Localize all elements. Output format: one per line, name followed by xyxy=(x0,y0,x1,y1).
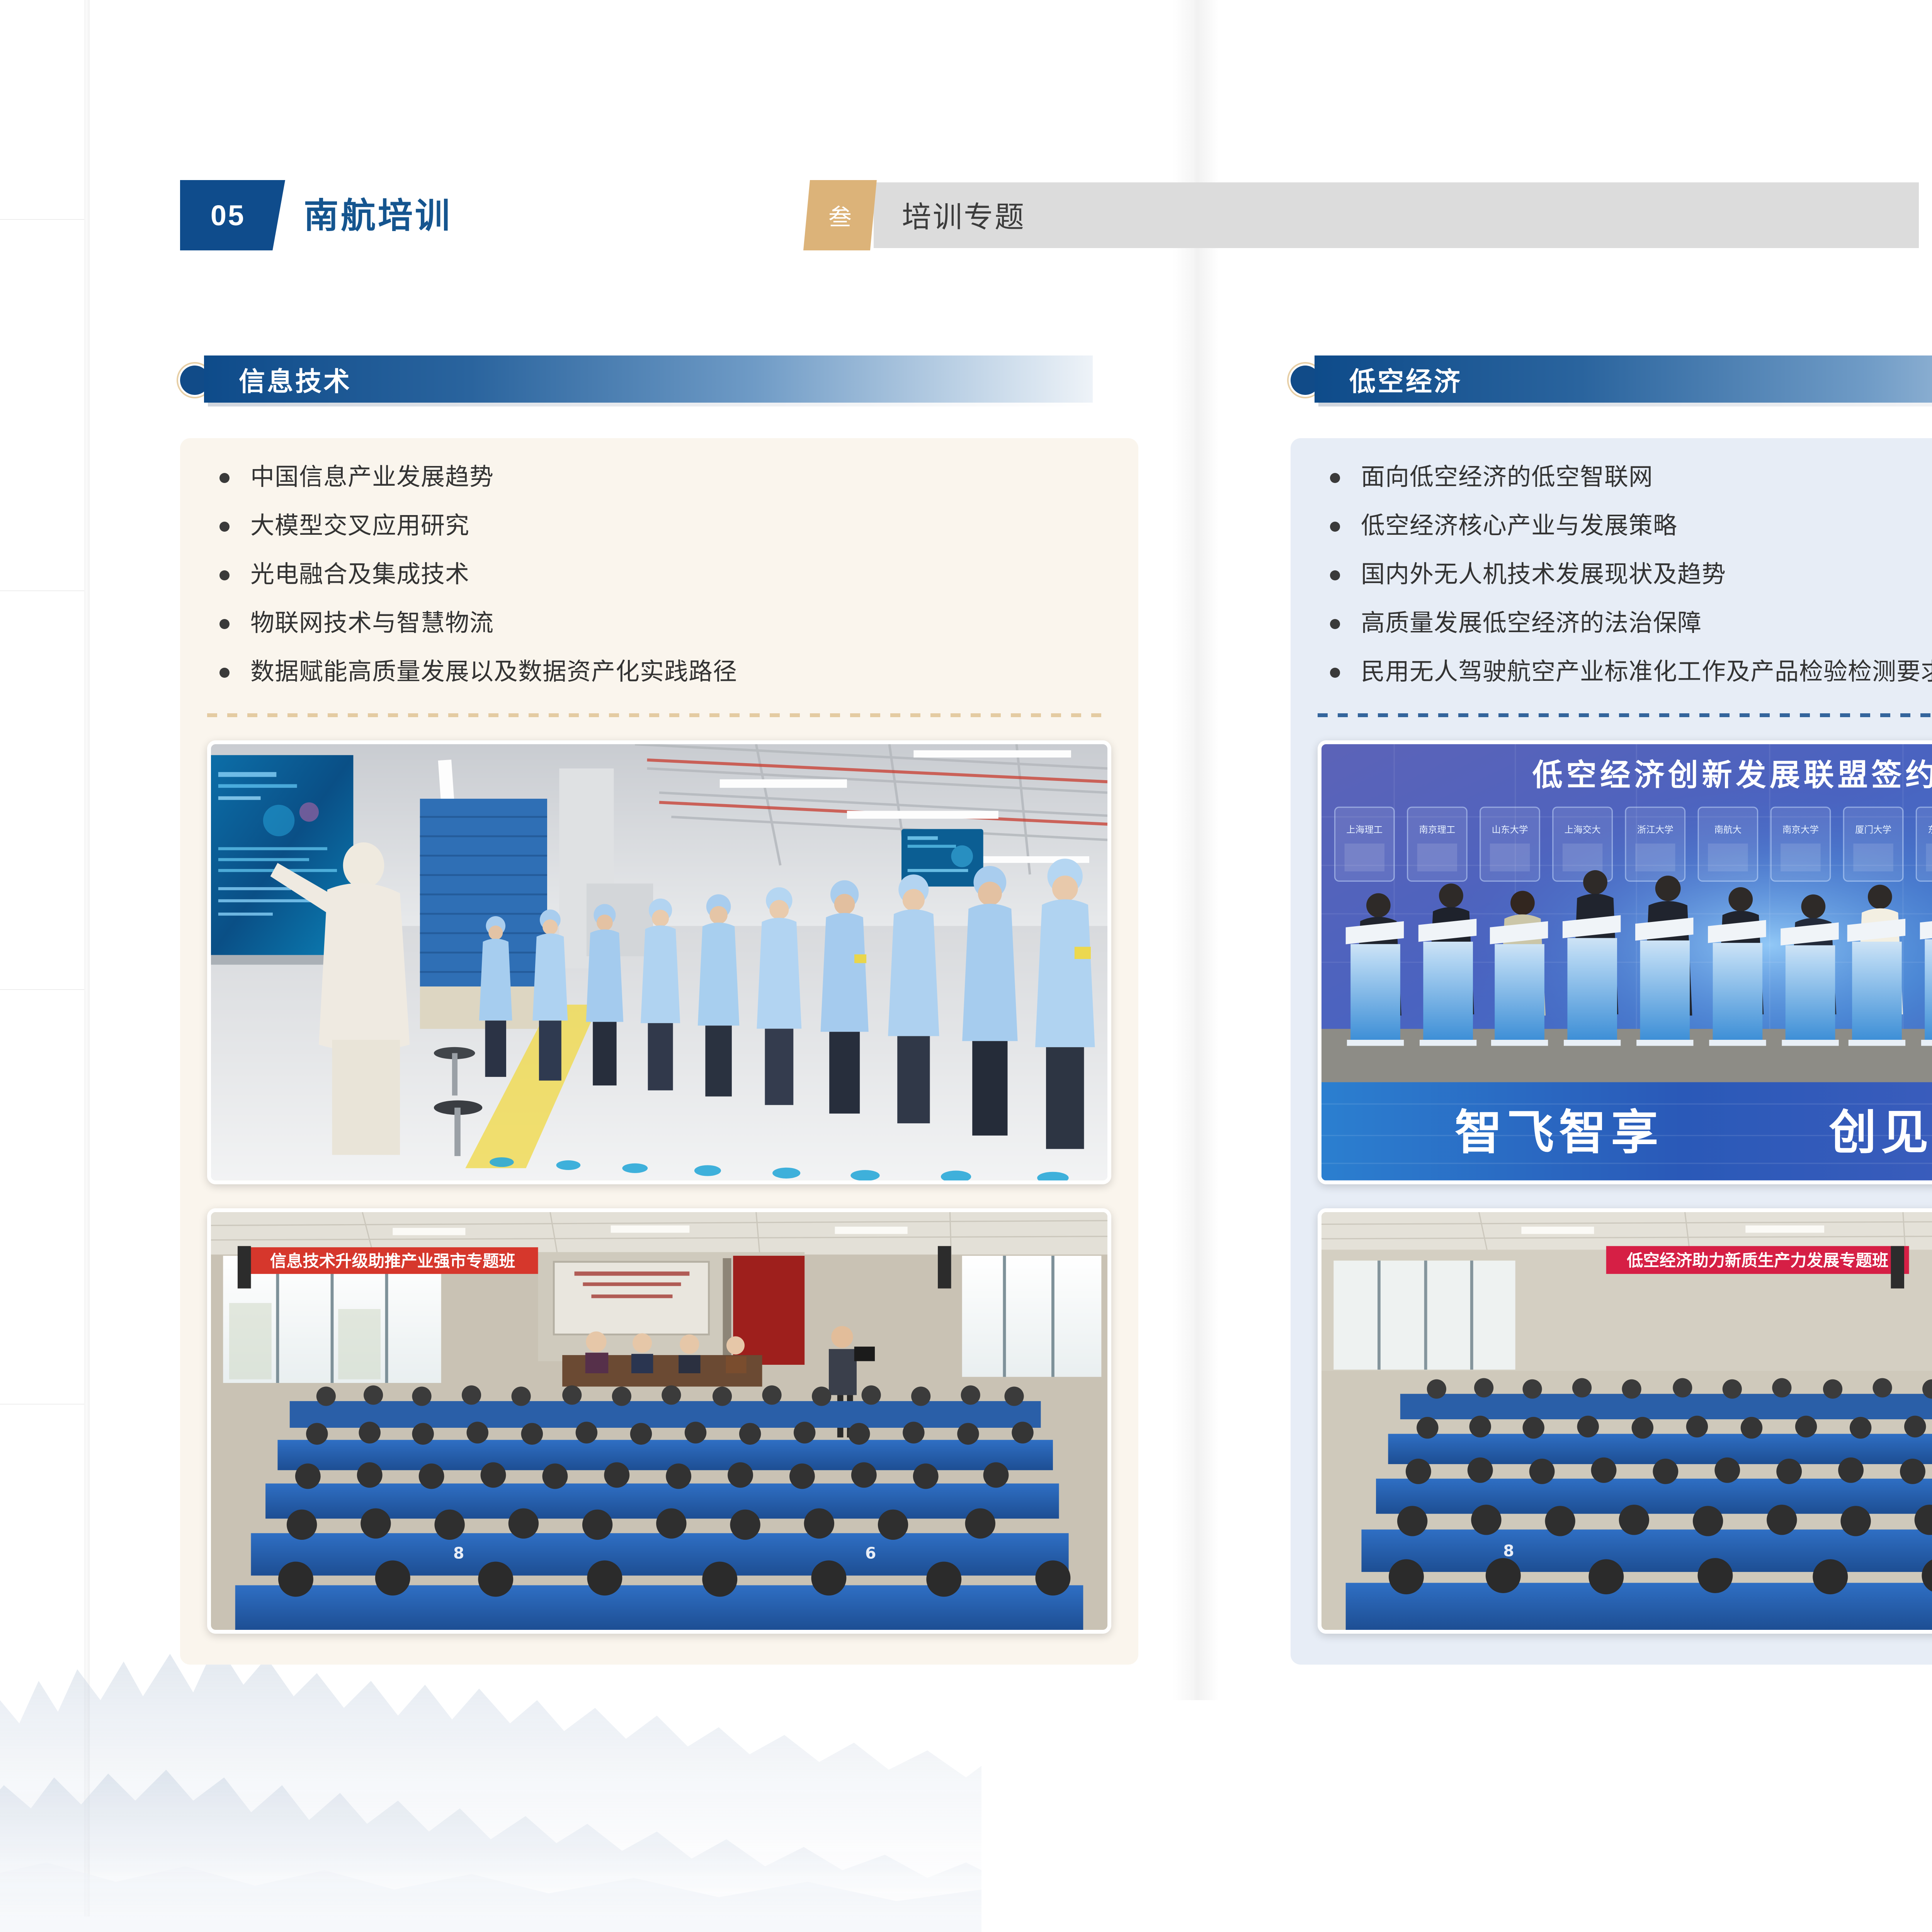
header-gray-bar xyxy=(874,182,1919,248)
brand-title: 南航培训 xyxy=(304,187,452,245)
section-title-bar: 低空经济 xyxy=(1315,355,1932,403)
plaque-label: 厦门大学 xyxy=(1855,824,1891,835)
list-item: 低空经济核心产业与发展策略 xyxy=(1318,514,1932,538)
section-bar-shadow xyxy=(208,403,1097,406)
plaque-label: 东南大学 xyxy=(1928,824,1932,835)
photo-banner-text: 低空经济助力新质生产力发展专题班 xyxy=(1627,1251,1888,1270)
page-number-badge: 05 xyxy=(180,180,285,250)
plaque-label: 上海理工 xyxy=(1346,824,1383,835)
list-item: 光电融合及集成技术 xyxy=(207,563,1111,587)
plaque-label: 山东大学 xyxy=(1492,824,1528,835)
section-label: 低空经济 xyxy=(1349,360,1462,398)
list-item: 高质量发展低空经济的法治保障 xyxy=(1318,611,1932,635)
list-item: 国内外无人机技术发展现状及趋势 xyxy=(1318,563,1932,587)
slogan-right: 创见未来 xyxy=(1829,1105,1932,1160)
section-numeral-badge: 叁 xyxy=(803,180,877,250)
content-card-information-technology: 中国信息产业发展趋势 大模型交叉应用研究 光电融合及集成技术 物联网技术与智慧物… xyxy=(180,438,1138,1665)
column-low-altitude-economy: 低空经济 面向低空经济的低空智联网 低空经济核心产业与发展策略 国内外无人机技术… xyxy=(1291,355,1932,1665)
plaque-label: 南京大学 xyxy=(1782,824,1819,835)
left-margin-strip xyxy=(0,0,85,1917)
list-item: 民用无人驾驶航空产业标准化工作及产品检验检测要求 xyxy=(1318,660,1932,684)
column-information-technology: 信息技术 中国信息产业发展趋势 大模型交叉应用研究 光电融合及集成技术 物联网技… xyxy=(180,355,1138,1665)
section-header-low-altitude-economy: 低空经济 xyxy=(1291,355,1932,405)
photo-signing-ceremony-stage: 低空经济创新发展联盟签约仪式 上海理工 南京理工 山 xyxy=(1318,740,1932,1184)
content-card-low-altitude-economy: 面向低空经济的低空智联网 低空经济核心产业与发展策略 国内外无人机技术发展现状及… xyxy=(1291,438,1932,1665)
list-item: 中国信息产业发展趋势 xyxy=(207,465,1111,489)
list-item: 数据赋能高质量发展以及数据资产化实践路径 xyxy=(207,660,1111,684)
topic-list-information-technology: 中国信息产业发展趋势 大模型交叉应用研究 光电融合及集成技术 物联网技术与智慧物… xyxy=(207,465,1111,684)
list-item: 物联网技术与智慧物流 xyxy=(207,611,1111,635)
plaque-label: 浙江大学 xyxy=(1637,824,1673,835)
section-header-information-technology: 信息技术 xyxy=(180,355,1138,405)
photo-cleanroom-factory-tour xyxy=(207,740,1111,1184)
dashed-divider xyxy=(1318,713,1932,717)
photo-classroom-lecture-information-technology: 信息技术升级助推产业强市专题班 xyxy=(207,1208,1111,1634)
section-label: 信息技术 xyxy=(239,360,352,398)
plaque-label: 上海交大 xyxy=(1565,824,1601,835)
plaque-label: 南航大 xyxy=(1714,824,1742,835)
section-bar-shadow xyxy=(1318,403,1932,406)
topic-list-low-altitude-economy: 面向低空经济的低空智联网 低空经济核心产业与发展策略 国内外无人机技术发展现状及… xyxy=(1318,465,1932,684)
seat-number: 8 xyxy=(1503,1541,1514,1560)
page-spine xyxy=(84,0,90,1917)
ceremony-banner-title: 低空经济创新发展联盟签约仪式 xyxy=(1532,758,1932,793)
page-number: 05 xyxy=(211,199,255,232)
section-title-bar: 信息技术 xyxy=(204,355,1093,403)
slogan-left: 智飞智享 xyxy=(1455,1105,1663,1160)
list-item: 面向低空经济的低空智联网 xyxy=(1318,465,1932,489)
page-header: 05 南航培训 叁 培训专题 xyxy=(180,180,1919,250)
section-numeral: 叁 xyxy=(828,199,852,232)
plaque-label: 南京理工 xyxy=(1419,824,1455,835)
photo-classroom-lecture-low-altitude-economy: 低空经济助力新质生产力发展专题班 xyxy=(1318,1208,1932,1634)
list-item: 大模型交叉应用研究 xyxy=(207,514,1111,538)
photo-banner-text: 信息技术升级助推产业强市专题班 xyxy=(270,1252,515,1270)
section-title: 培训专题 xyxy=(902,193,1026,236)
dashed-divider xyxy=(207,713,1111,717)
seat-number: 8 xyxy=(453,1544,464,1562)
seat-number: 6 xyxy=(865,1544,876,1562)
